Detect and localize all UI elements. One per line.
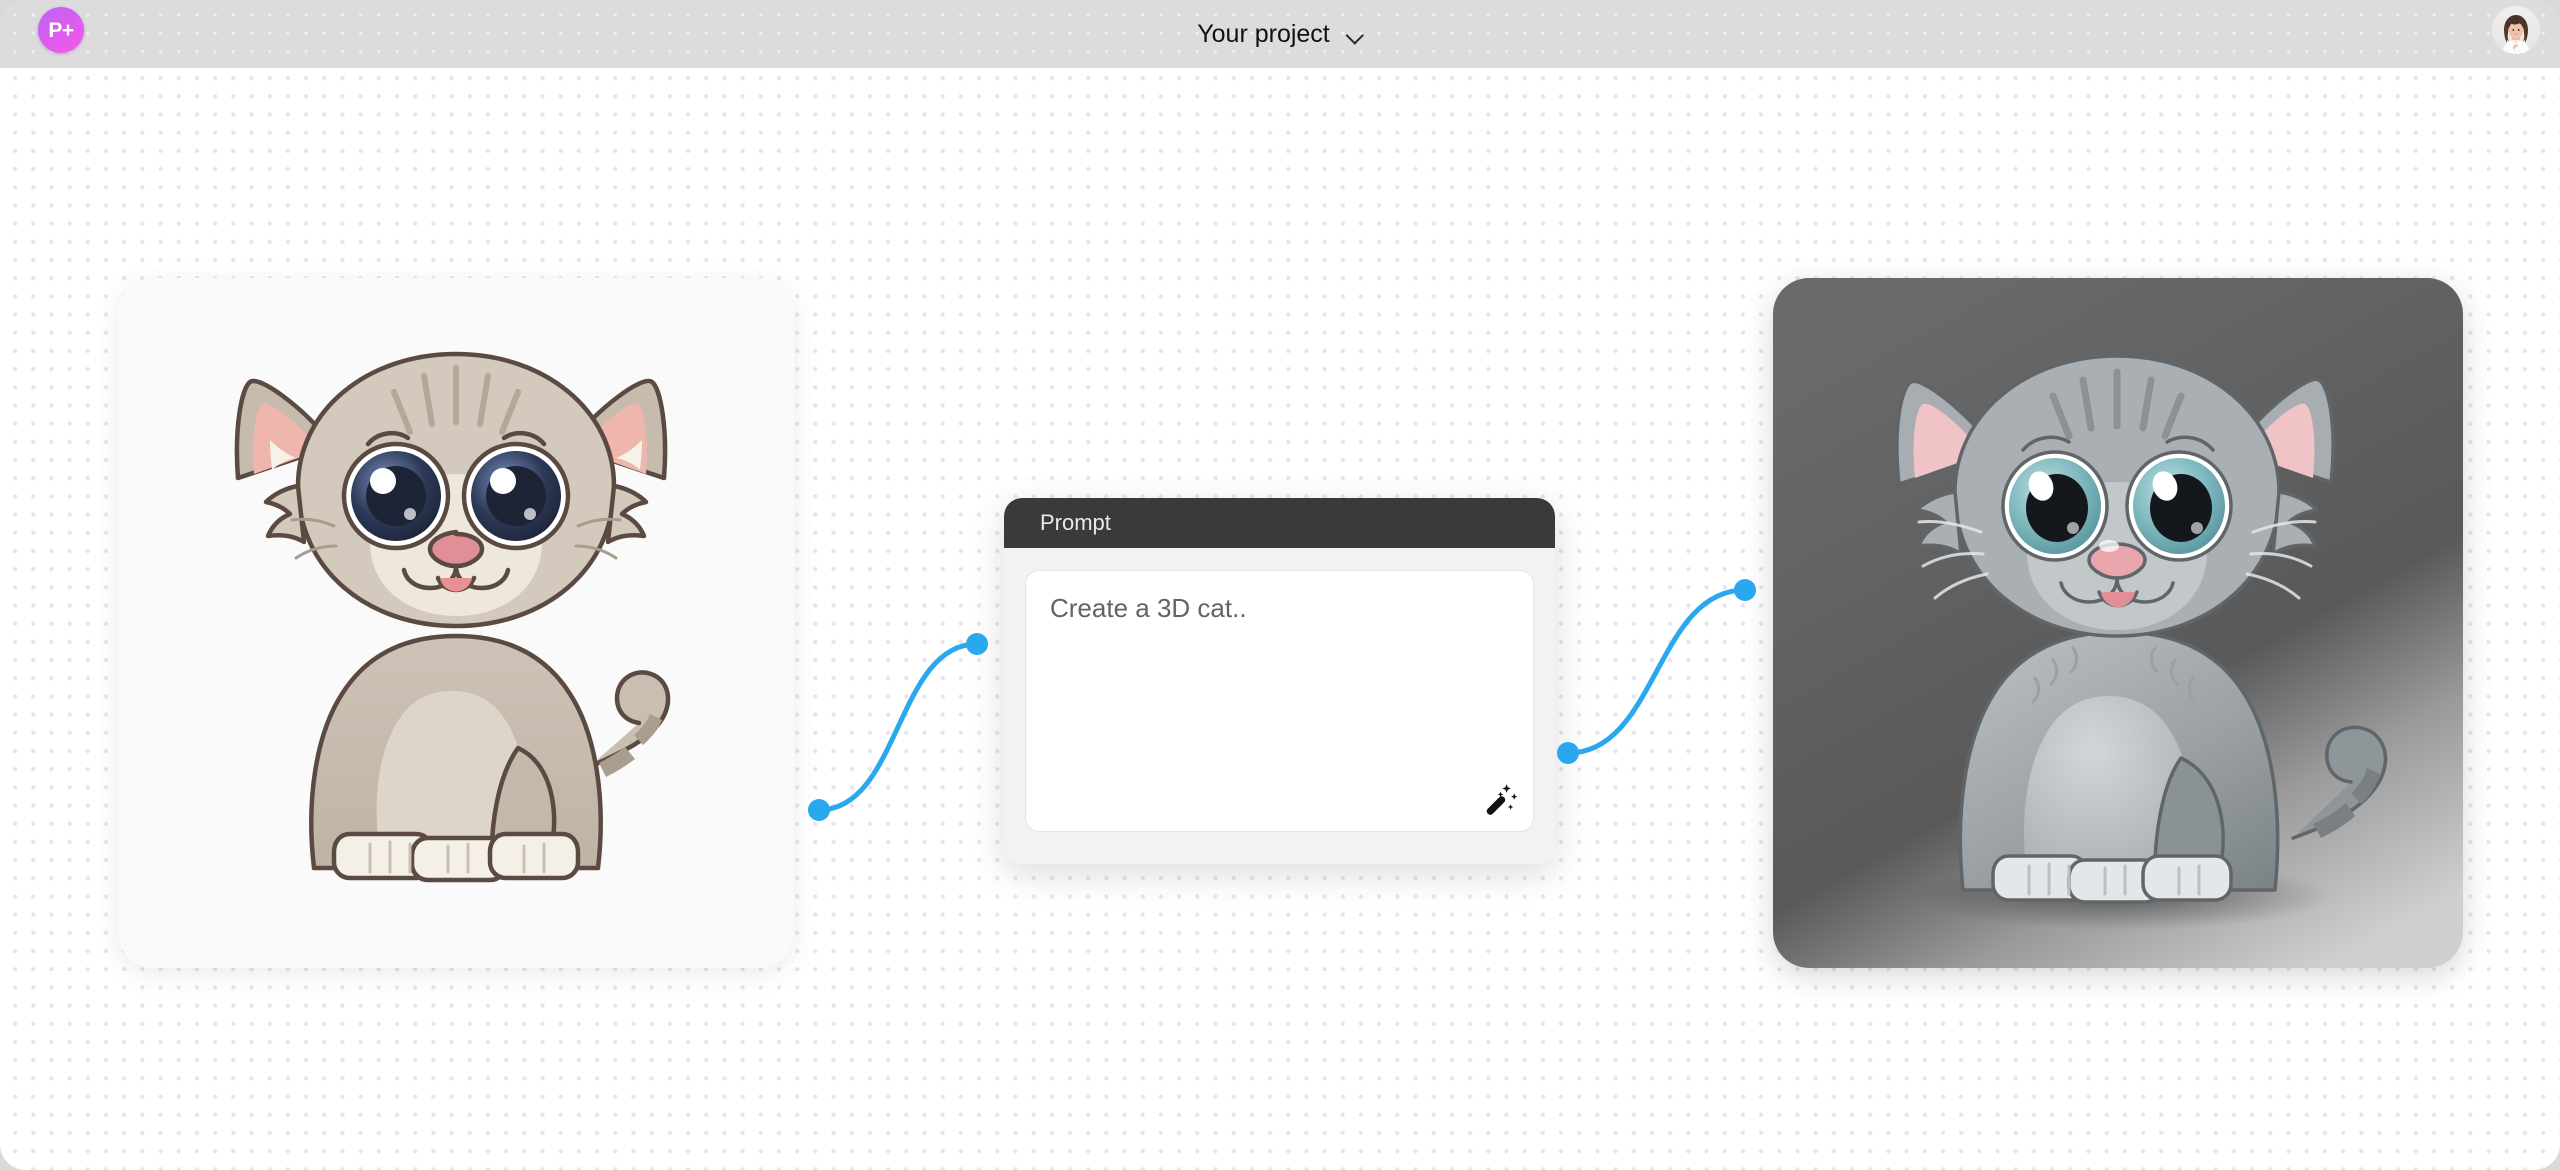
edge-handle-in <box>1734 579 1756 601</box>
node-canvas[interactable]: Prompt Create a 3D cat.. <box>0 68 2560 1170</box>
chevron-down-icon <box>1346 29 1363 39</box>
avatar[interactable] <box>2492 6 2540 54</box>
prompt-input-value: Create a 3D cat.. <box>1050 592 1509 625</box>
edge-handle-in <box>966 633 988 655</box>
brand-logo-icon[interactable]: P+ <box>38 7 84 53</box>
edge-source-to-prompt <box>808 633 988 821</box>
project-title: Your project <box>1197 20 1330 49</box>
brand-logo-label: P+ <box>48 20 73 41</box>
edge-path <box>819 644 977 810</box>
magic-wand-icon[interactable] <box>1479 781 1519 821</box>
prompt-node-header: Prompt <box>1004 498 1555 548</box>
prompt-node-body: Create a 3D cat.. <box>1004 548 1555 858</box>
project-switcher-button[interactable]: Your project <box>1187 0 1373 68</box>
top-bar: P+ Your project <box>0 0 2560 68</box>
prompt-node-title: Prompt <box>1040 510 1111 536</box>
prompt-node[interactable]: Prompt Create a 3D cat.. <box>1004 498 1555 864</box>
app-window: P+ Your project <box>0 0 2560 1170</box>
edge-handle-out <box>1557 742 1579 764</box>
edge-handle-out <box>808 799 830 821</box>
edge-path <box>1568 590 1745 753</box>
result-image-node[interactable] <box>1773 278 2463 968</box>
prompt-input[interactable]: Create a 3D cat.. <box>1025 570 1534 832</box>
edge-prompt-to-result <box>1557 579 1756 764</box>
source-image-node[interactable] <box>118 278 794 968</box>
